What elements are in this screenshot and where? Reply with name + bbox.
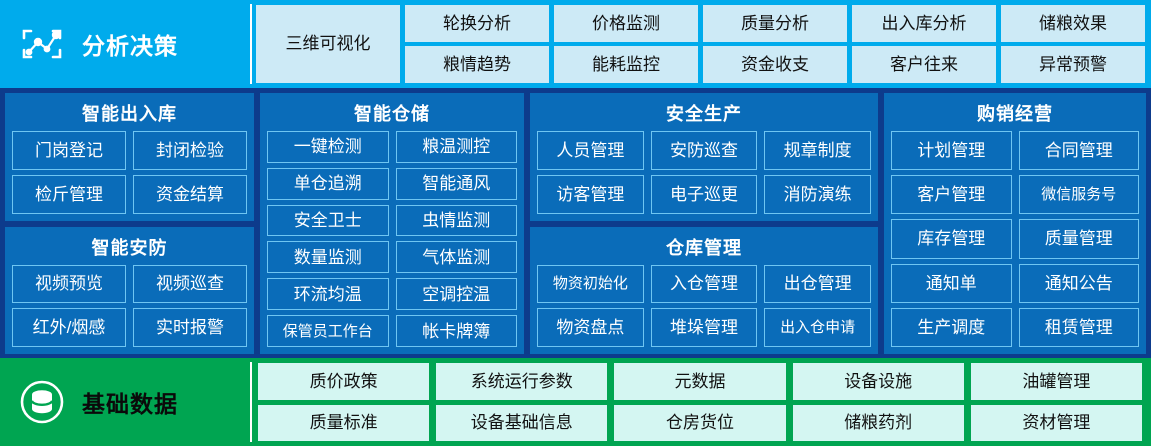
panel-smart-security: 智能安防 视频预览 视频巡查 红外/烟感 实时报警 [5, 227, 254, 355]
module-column-3: 安全生产 人员管理 安防巡查 规章制度 访客管理 电子巡更 消防演练 仓库管理 … [530, 93, 878, 354]
module-button-customer-mgmt[interactable]: 客户管理 [891, 175, 1012, 214]
module-button-gas-monitor[interactable]: 气体监测 [396, 241, 518, 273]
panel-grid-purchase-sales: 计划管理 合同管理 客户管理 微信服务号 库存管理 质量管理 通知单 通知公告 … [891, 131, 1139, 347]
base-button-metadata[interactable]: 元数据 [614, 363, 785, 400]
base-button-equipment-info[interactable]: 设备基础信息 [436, 405, 607, 442]
module-panels-section: 智能出入库 门岗登记 封闭检验 检斤管理 资金结算 智能安防 视频预览 视频巡查… [0, 88, 1151, 358]
panel-title-smart-security: 智能安防 [12, 231, 247, 265]
module-column-4: 购销经营 计划管理 合同管理 客户管理 微信服务号 库存管理 质量管理 通知单 … [884, 93, 1146, 354]
analysis-button-storage-effect[interactable]: 储粮效果 [1001, 5, 1145, 42]
module-button-account-card[interactable]: 帐卡牌簿 [396, 315, 518, 347]
base-button-grid: 质价政策 系统运行参数 元数据 设备设施 油罐管理 质量标准 设备基础信息 仓房… [252, 358, 1151, 446]
module-button-one-key-detect[interactable]: 一键检测 [267, 131, 389, 163]
module-button-insect-monitor[interactable]: 虫情监测 [396, 205, 518, 237]
module-button-video-preview[interactable]: 视频预览 [12, 265, 126, 304]
module-button-video-patrol[interactable]: 视频巡查 [133, 265, 247, 304]
analysis-button-customer-trans[interactable]: 客户往来 [852, 46, 996, 83]
module-button-outbound-mgmt[interactable]: 出仓管理 [764, 265, 871, 304]
base-button-system-params[interactable]: 系统运行参数 [436, 363, 607, 400]
module-button-grain-temp[interactable]: 粮温测控 [396, 131, 518, 163]
module-button-gate-register[interactable]: 门岗登记 [12, 131, 126, 170]
base-button-grain-chemical[interactable]: 储粮药剂 [793, 405, 964, 442]
module-button-fire-drill[interactable]: 消防演练 [764, 175, 871, 214]
analysis-button-fund-flow[interactable]: 资金收支 [703, 46, 847, 83]
panel-title-safety-production: 安全生产 [537, 97, 871, 131]
module-button-material-init[interactable]: 物资初始化 [537, 265, 644, 304]
analysis-button-abnormal-alert[interactable]: 异常预警 [1001, 46, 1145, 83]
module-button-ac-temp-control[interactable]: 空调控温 [396, 278, 518, 310]
panel-grid-smart-inout: 门岗登记 封闭检验 检斤管理 资金结算 [12, 131, 247, 214]
module-button-fund-settlement[interactable]: 资金结算 [133, 175, 247, 214]
module-button-inventory-mgmt[interactable]: 库存管理 [891, 219, 1012, 258]
module-button-notice-announcement[interactable]: 通知公告 [1019, 264, 1140, 303]
panel-smart-inout: 智能出入库 门岗登记 封闭检验 检斤管理 资金结算 [5, 93, 254, 221]
panel-purchase-sales: 购销经营 计划管理 合同管理 客户管理 微信服务号 库存管理 质量管理 通知单 … [884, 93, 1146, 354]
base-section-title: 基础数据 [82, 385, 178, 419]
module-button-stacking-mgmt[interactable]: 堆垛管理 [651, 308, 758, 347]
base-brand: 基础数据 [0, 358, 252, 446]
panel-grid-safety-production: 人员管理 安防巡查 规章制度 访客管理 电子巡更 消防演练 [537, 131, 871, 214]
base-button-quality-standard[interactable]: 质量标准 [258, 405, 429, 442]
base-button-warehouse-slot[interactable]: 仓房货位 [614, 405, 785, 442]
module-button-contract-mgmt[interactable]: 合同管理 [1019, 131, 1140, 170]
module-button-keeper-workbench[interactable]: 保管员工作台 [267, 315, 389, 347]
database-icon [10, 378, 74, 426]
module-button-personnel-mgmt[interactable]: 人员管理 [537, 131, 644, 170]
module-column-2: 智能仓储 一键检测 粮温测控 单仓追溯 智能通风 安全卫士 虫情监测 数量监测 … [260, 93, 524, 354]
module-button-circulation-temp[interactable]: 环流均温 [267, 278, 389, 310]
module-button-weighing-mgmt[interactable]: 检斤管理 [12, 175, 126, 214]
module-button-quality-mgmt[interactable]: 质量管理 [1019, 219, 1140, 258]
module-button-visitor-mgmt[interactable]: 访客管理 [537, 175, 644, 214]
module-button-notice-slip[interactable]: 通知单 [891, 264, 1012, 303]
module-button-safety-guard[interactable]: 安全卫士 [267, 205, 389, 237]
analysis-button-rotation[interactable]: 轮换分析 [405, 5, 549, 42]
analytics-chart-icon [10, 24, 74, 64]
module-button-infrared-smoke[interactable]: 红外/烟感 [12, 308, 126, 347]
analysis-button-price-monitor[interactable]: 价格监测 [554, 5, 698, 42]
module-button-realtime-alarm[interactable]: 实时报警 [133, 308, 247, 347]
panel-safety-production: 安全生产 人员管理 安防巡查 规章制度 访客管理 电子巡更 消防演练 [530, 93, 878, 221]
panel-grid-smart-security: 视频预览 视频巡查 红外/烟感 实时报警 [12, 265, 247, 348]
module-button-closed-inspection[interactable]: 封闭检验 [133, 131, 247, 170]
module-button-electronic-patrol[interactable]: 电子巡更 [651, 175, 758, 214]
panel-warehouse-mgmt: 仓库管理 物资初始化 入仓管理 出仓管理 物资盘点 堆垛管理 出入仓申请 [530, 227, 878, 355]
panel-title-warehouse-mgmt: 仓库管理 [537, 231, 871, 265]
analysis-button-quality[interactable]: 质量分析 [703, 5, 847, 42]
panel-title-purchase-sales: 购销经营 [891, 97, 1139, 131]
analysis-brand: 分析决策 [0, 0, 252, 88]
module-button-lease-mgmt[interactable]: 租赁管理 [1019, 308, 1140, 347]
module-button-material-inventory[interactable]: 物资盘点 [537, 308, 644, 347]
portal-dashboard: 分析决策 三维可视化 轮换分析 价格监测 质量分析 出入库分析 储粮效果 粮情趋… [0, 0, 1151, 446]
panel-smart-storage: 智能仓储 一键检测 粮温测控 单仓追溯 智能通风 安全卫士 虫情监测 数量监测 … [260, 93, 524, 354]
module-column-1: 智能出入库 门岗登记 封闭检验 检斤管理 资金结算 智能安防 视频预览 视频巡查… [5, 93, 254, 354]
module-button-inout-request[interactable]: 出入仓申请 [764, 308, 871, 347]
module-button-quantity-monitor[interactable]: 数量监测 [267, 241, 389, 273]
analysis-button-3d-visual[interactable]: 三维可视化 [256, 5, 400, 83]
module-button-single-bin-trace[interactable]: 单仓追溯 [267, 168, 389, 200]
panel-title-smart-storage: 智能仓储 [267, 97, 517, 131]
base-button-material-mgmt[interactable]: 资材管理 [971, 405, 1142, 442]
analysis-button-grid: 三维可视化 轮换分析 价格监测 质量分析 出入库分析 储粮效果 粮情趋势 能耗监… [252, 0, 1151, 88]
base-button-oil-tank-mgmt[interactable]: 油罐管理 [971, 363, 1142, 400]
analysis-button-inout-analysis[interactable]: 出入库分析 [852, 5, 996, 42]
module-button-production-schedule[interactable]: 生产调度 [891, 308, 1012, 347]
module-button-smart-ventilation[interactable]: 智能通风 [396, 168, 518, 200]
panel-grid-smart-storage: 一键检测 粮温测控 单仓追溯 智能通风 安全卫士 虫情监测 数量监测 气体监测 … [267, 131, 517, 347]
module-button-inbound-mgmt[interactable]: 入仓管理 [651, 265, 758, 304]
module-button-security-patrol[interactable]: 安防巡查 [651, 131, 758, 170]
panel-grid-warehouse-mgmt: 物资初始化 入仓管理 出仓管理 物资盘点 堆垛管理 出入仓申请 [537, 265, 871, 348]
base-data-section: 基础数据 质价政策 系统运行参数 元数据 设备设施 油罐管理 质量标准 设备基础… [0, 358, 1151, 446]
base-button-price-policy[interactable]: 质价政策 [258, 363, 429, 400]
module-button-wechat-service[interactable]: 微信服务号 [1019, 175, 1140, 214]
module-button-rules-regulations[interactable]: 规章制度 [764, 131, 871, 170]
analysis-section-title: 分析决策 [82, 27, 178, 61]
module-button-plan-mgmt[interactable]: 计划管理 [891, 131, 1012, 170]
analysis-button-energy-monitor[interactable]: 能耗监控 [554, 46, 698, 83]
analysis-decision-section: 分析决策 三维可视化 轮换分析 价格监测 质量分析 出入库分析 储粮效果 粮情趋… [0, 0, 1151, 88]
analysis-button-grain-trend[interactable]: 粮情趋势 [405, 46, 549, 83]
base-button-equipment-facility[interactable]: 设备设施 [793, 363, 964, 400]
panel-title-smart-inout: 智能出入库 [12, 97, 247, 131]
